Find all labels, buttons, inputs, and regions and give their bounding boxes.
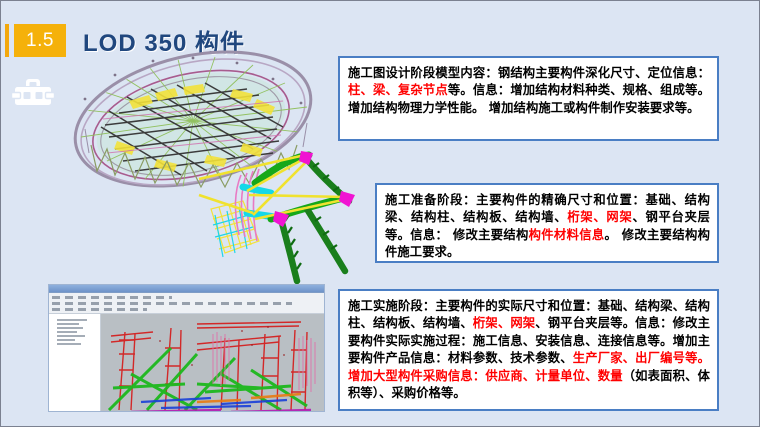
bim-software-screenshot [48,284,325,412]
accent-bar [5,24,9,57]
slide-canvas: 1.5 LOD 350 构件 [0,0,760,427]
toolbox-icon [11,76,55,110]
cad-viewport [101,314,324,412]
textbox-construction-implementation-stage: 施工实施阶段：主要构件的实际尺寸和位置：基础、结构梁、结构柱、结构板、结构墙、桁… [338,289,719,411]
cad-menubar [49,293,324,314]
cad-model-tree [49,314,101,412]
cad-titlebar [49,285,324,293]
highlighted-text: 桁架、网架 [567,209,632,224]
highlighted-text: 桁架、网架 [473,315,535,330]
textbox-construction-drawing-design-stage: 施工图设计阶段模型内容：钢结构主要构件深化尺寸、定位信息：柱、梁、复杂节点等。信… [338,56,719,141]
highlighted-text: 柱、梁、复杂节点 [348,82,448,97]
textbox-construction-preparation-stage: 施工准备阶段：主要构件的精确尺寸和位置：基础、结构梁、结构柱、结构板、结构墙、桁… [375,183,719,263]
truss-detail-model-figure [197,149,357,284]
body-text: 施工图设计阶段模型内容：钢结构主要构件深化尺寸、定位信息： [348,65,710,80]
highlighted-text: 构件材料信息 [529,227,605,242]
